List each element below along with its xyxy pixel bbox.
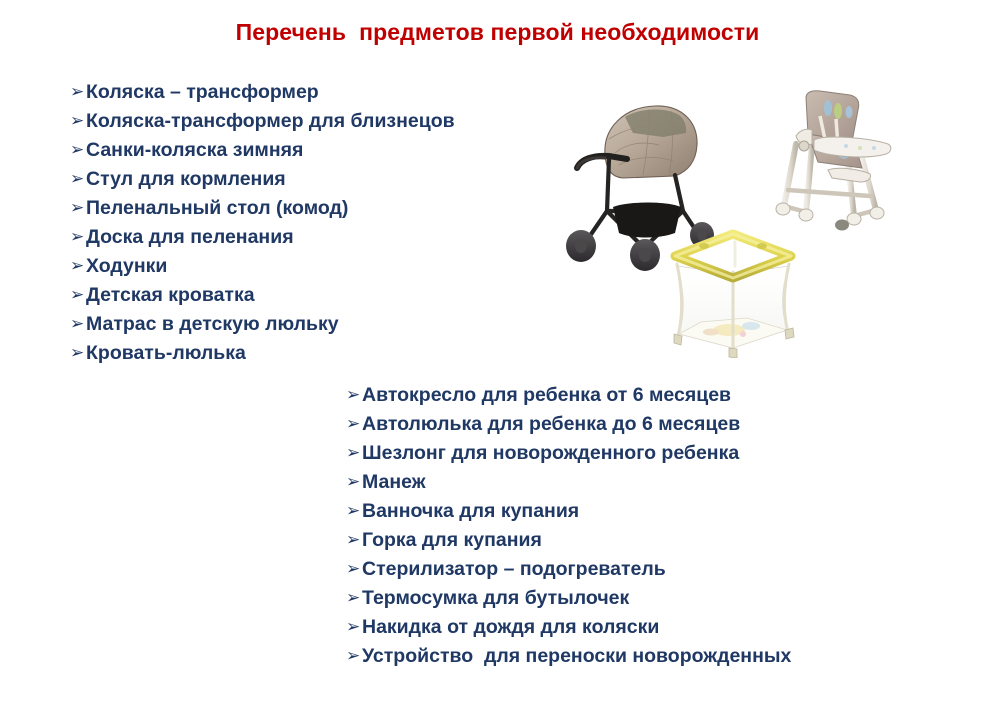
list-item: ➢ Горка для купания (346, 526, 906, 555)
list-item-label: Детская кроватка (86, 281, 255, 310)
list-item-label: Пеленальный стол (комод) (86, 194, 348, 223)
list-item-label: Стерилизатор – подогреватель (362, 555, 666, 584)
high-chair-photo (766, 86, 896, 234)
list-item: ➢ Стерилизатор – подогреватель (346, 555, 906, 584)
list-item: ➢ Доска для пеленания (70, 223, 540, 252)
list-item-label: Автолюлька для ребенка до 6 месяцев (362, 410, 740, 439)
list-item-label: Устройство для переноски новорожденных (362, 642, 791, 671)
list-item: ➢ Автолюлька для ребенка до 6 месяцев (346, 410, 906, 439)
playpen-photo (655, 226, 813, 358)
arrow-bullet-icon: ➢ (70, 107, 86, 136)
list-item-label: Автокресло для ребенка от 6 месяцев (362, 381, 731, 410)
arrow-bullet-icon: ➢ (346, 381, 362, 410)
list-item: ➢ Стул для кормления (70, 165, 540, 194)
list-item-label: Доска для пеленания (86, 223, 294, 252)
arrow-bullet-icon: ➢ (346, 468, 362, 497)
arrow-bullet-icon: ➢ (346, 410, 362, 439)
list-item-label: Стул для кормления (86, 165, 286, 194)
list-item: ➢ Накидка от дождя для коляски (346, 613, 906, 642)
arrow-bullet-icon: ➢ (70, 78, 86, 107)
arrow-bullet-icon: ➢ (346, 642, 362, 671)
arrow-bullet-icon: ➢ (70, 339, 86, 368)
list-item-label: Кровать-люлька (86, 339, 246, 368)
arrow-bullet-icon: ➢ (346, 439, 362, 468)
arrow-bullet-icon: ➢ (346, 526, 362, 555)
arrow-bullet-icon: ➢ (70, 194, 86, 223)
list-item: ➢ Кровать-люлька (70, 339, 540, 368)
list-item: ➢ Коляска – трансформер (70, 78, 540, 107)
list-item-label: Коляска-трансформер для близнецов (86, 107, 455, 136)
list-item-label: Санки-коляска зимняя (86, 136, 303, 165)
list-item: ➢ Термосумка для бутылочек (346, 584, 906, 613)
arrow-bullet-icon: ➢ (70, 281, 86, 310)
list-item-label: Коляска – трансформер (86, 78, 319, 107)
arrow-bullet-icon: ➢ (346, 555, 362, 584)
list-item: ➢ Автокресло для ребенка от 6 месяцев (346, 381, 906, 410)
list-item-label: Манеж (362, 468, 426, 497)
list-item: ➢ Детская кроватка (70, 281, 540, 310)
list-item-label: Накидка от дождя для коляски (362, 613, 659, 642)
arrow-bullet-icon: ➢ (70, 252, 86, 281)
list-item: ➢ Матрас в детскую люльку (70, 310, 540, 339)
list-item: ➢ Ванночка для купания (346, 497, 906, 526)
list-item-label: Горка для купания (362, 526, 542, 555)
list-item-label: Термосумка для бутылочек (362, 584, 629, 613)
arrow-bullet-icon: ➢ (70, 136, 86, 165)
page-title: Перечень предметов первой необходимости (0, 19, 995, 46)
list-item: ➢ Санки-коляска зимняя (70, 136, 540, 165)
list-item-label: Ходунки (86, 252, 167, 281)
list-item-label: Шезлонг для новорожденного ребенка (362, 439, 739, 468)
arrow-bullet-icon: ➢ (70, 165, 86, 194)
arrow-bullet-icon: ➢ (346, 497, 362, 526)
list-item: ➢ Пеленальный стол (комод) (70, 194, 540, 223)
list-item-label: Ванночка для купания (362, 497, 579, 526)
list-item-label: Матрас в детскую люльку (86, 310, 339, 339)
arrow-bullet-icon: ➢ (346, 613, 362, 642)
slide-canvas: Перечень предметов первой необходимости … (0, 0, 995, 702)
list-item: ➢ Ходунки (70, 252, 540, 281)
arrow-bullet-icon: ➢ (70, 310, 86, 339)
arrow-bullet-icon: ➢ (70, 223, 86, 252)
list-item: ➢ Коляска-трансформер для близнецов (70, 107, 540, 136)
list-item: ➢ Манеж (346, 468, 906, 497)
secondary-item-list: ➢ Автокресло для ребенка от 6 месяцев ➢ … (346, 381, 906, 671)
arrow-bullet-icon: ➢ (346, 584, 362, 613)
list-item: ➢ Шезлонг для новорожденного ребенка (346, 439, 906, 468)
list-item: ➢ Устройство для переноски новорожденных (346, 642, 906, 671)
primary-item-list: ➢ Коляска – трансформер ➢ Коляска-трансф… (70, 78, 540, 368)
